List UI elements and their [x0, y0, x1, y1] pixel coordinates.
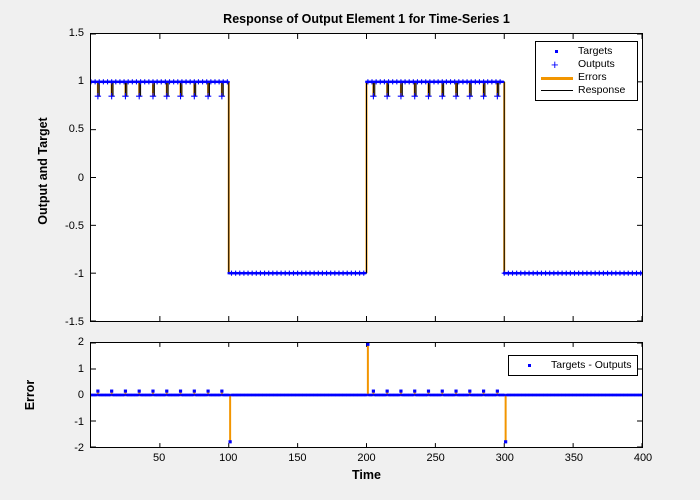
ytick-label: -1	[74, 416, 84, 428]
ytick-label: 0.5	[69, 123, 84, 135]
xtick-label: 50	[153, 452, 165, 464]
legend-item-errors[interactable]: Errors	[540, 71, 631, 84]
ytick-label: -0.5	[65, 220, 84, 232]
x-axis-label: Time	[90, 468, 643, 482]
legend-item-targets-minus-outputs[interactable]: Targets - Outputs	[513, 359, 631, 372]
legend-label: Targets - Outputs	[547, 359, 632, 372]
xtick-label: 100	[219, 452, 237, 464]
xtick-label: 350	[565, 452, 583, 464]
legend-item-response[interactable]: Response	[540, 84, 631, 97]
xtick-label: 250	[426, 452, 444, 464]
plus-marker-icon: +	[540, 58, 574, 71]
bottom-plot-y-axis-label: Error	[23, 355, 37, 435]
bottom-plot-legend[interactable]: Targets - Outputs	[508, 355, 638, 376]
legend-label: Response	[574, 84, 625, 97]
legend-label: Targets	[574, 45, 612, 58]
legend-label: Errors	[574, 71, 607, 84]
ytick-label: 0	[78, 172, 84, 184]
figure-container: Response of Output Element 1 for Time-Se…	[0, 0, 700, 500]
ytick-label: -2	[74, 442, 84, 454]
x-axis-tick-labels: 50 100 150 200 250 300 350 400	[90, 452, 643, 468]
line-swatch-icon	[540, 84, 574, 97]
xtick-label: 150	[288, 452, 306, 464]
legend-item-outputs[interactable]: + Outputs	[540, 58, 631, 71]
xtick-label: 200	[357, 452, 375, 464]
ytick-label: -1.5	[65, 316, 84, 328]
top-plot-y-axis-label: Output and Target	[36, 81, 50, 261]
dot-marker-icon	[513, 359, 547, 372]
xtick-label: 300	[496, 452, 514, 464]
ytick-label: 1	[78, 363, 84, 375]
ytick-label: 1.5	[69, 27, 84, 39]
ytick-label: 2	[78, 336, 84, 348]
ytick-label: -1	[74, 268, 84, 280]
top-plot-ytick-labels: 1.5 1 0.5 0 -0.5 -1 -1.5	[48, 33, 84, 322]
page-title: Response of Output Element 1 for Time-Se…	[90, 12, 643, 26]
ytick-label: 1	[78, 75, 84, 87]
legend-label: Outputs	[574, 58, 615, 71]
xtick-label: 400	[634, 452, 652, 464]
top-plot-legend[interactable]: Targets + Outputs Errors Response	[535, 41, 638, 101]
bottom-plot-ytick-labels: 2 1 0 -1 -2	[48, 342, 84, 448]
ytick-label: 0	[78, 389, 84, 401]
line-swatch-icon	[540, 71, 574, 84]
